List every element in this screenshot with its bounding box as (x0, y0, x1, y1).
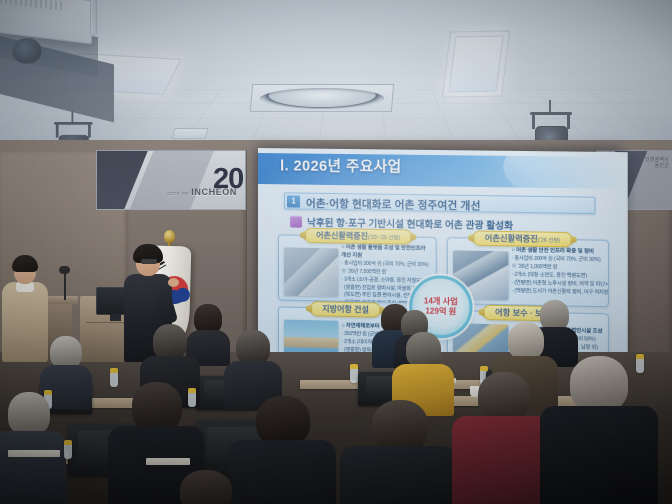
attendee-head (256, 396, 310, 446)
water-bottle (350, 364, 358, 383)
card-heading: ○ 어촌 생활 플랫폼 조성 및 안전인프라 개선 지원 (341, 244, 431, 262)
operator-hand (168, 278, 179, 287)
attendee-head (372, 400, 428, 452)
attendee-head (570, 356, 628, 412)
card-pill-label-top-right: 어촌신활력증진(’26 선정) (472, 230, 572, 247)
flag-finial (164, 230, 175, 243)
attendee-head (478, 372, 530, 422)
banner-right-logo: 인천광역시옹진군 (645, 157, 669, 170)
section-heading: 어촌·어항 현대화로 어촌 정주여건 개선 (306, 196, 480, 214)
audience-member (0, 392, 66, 504)
diamond-bullet-icon (290, 215, 302, 227)
attendee-torso (540, 406, 658, 504)
banner-incheon-logo: CITY OFINCHEON (167, 187, 237, 197)
attendee-head (153, 324, 187, 360)
card-pill-label-bottom-left: 지방어항 건설 (310, 301, 381, 318)
attendee-head (236, 330, 270, 365)
attendee-torso (0, 431, 66, 504)
monitor-stand (110, 314, 121, 321)
medallion-line-1: 14개 사업 (424, 296, 458, 307)
audience-member (158, 470, 254, 504)
attendee-head (132, 382, 182, 432)
glasses-icon (141, 259, 157, 264)
venue-banner-left: 20 CITY OFINCHEON (96, 150, 246, 210)
card-thumbnail-image (284, 247, 338, 296)
attendee-torso (340, 446, 456, 504)
attendee-head (406, 332, 441, 368)
audience-member (340, 400, 456, 504)
presenter-hair (12, 255, 38, 272)
water-bottle (64, 440, 72, 459)
handout-paper (146, 458, 190, 465)
conference-room-photo: 20 CITY OFINCHEON 회 인천광역시옹진군 Ⅰ. 2026년 주요… (0, 0, 672, 504)
attendee-head (508, 322, 544, 360)
slide-card-top-right: ○ 어촌 생활 안전 인프라 확충 및 정비 · 총사업비 200억 원 (국비… (447, 237, 609, 307)
card-bullet: · (백령면) 도서가 어촌신활력 정비, 어구 적치장, 녹색체험장 조성 등 (512, 287, 604, 297)
slide-title: Ⅰ. 2026년 주요사업 (280, 154, 402, 177)
microphone-icon (59, 266, 70, 274)
section-number-badge: 1 (287, 195, 300, 207)
ceiling (0, 0, 672, 152)
handout-paper (8, 450, 60, 457)
microphone-stem (64, 272, 66, 300)
attendee-head (8, 392, 50, 436)
card-pill-label-top-left: 어촌신활력증진(’23~’25 선정) (304, 228, 412, 245)
attendee-head (180, 470, 232, 504)
audience-member (540, 356, 658, 504)
